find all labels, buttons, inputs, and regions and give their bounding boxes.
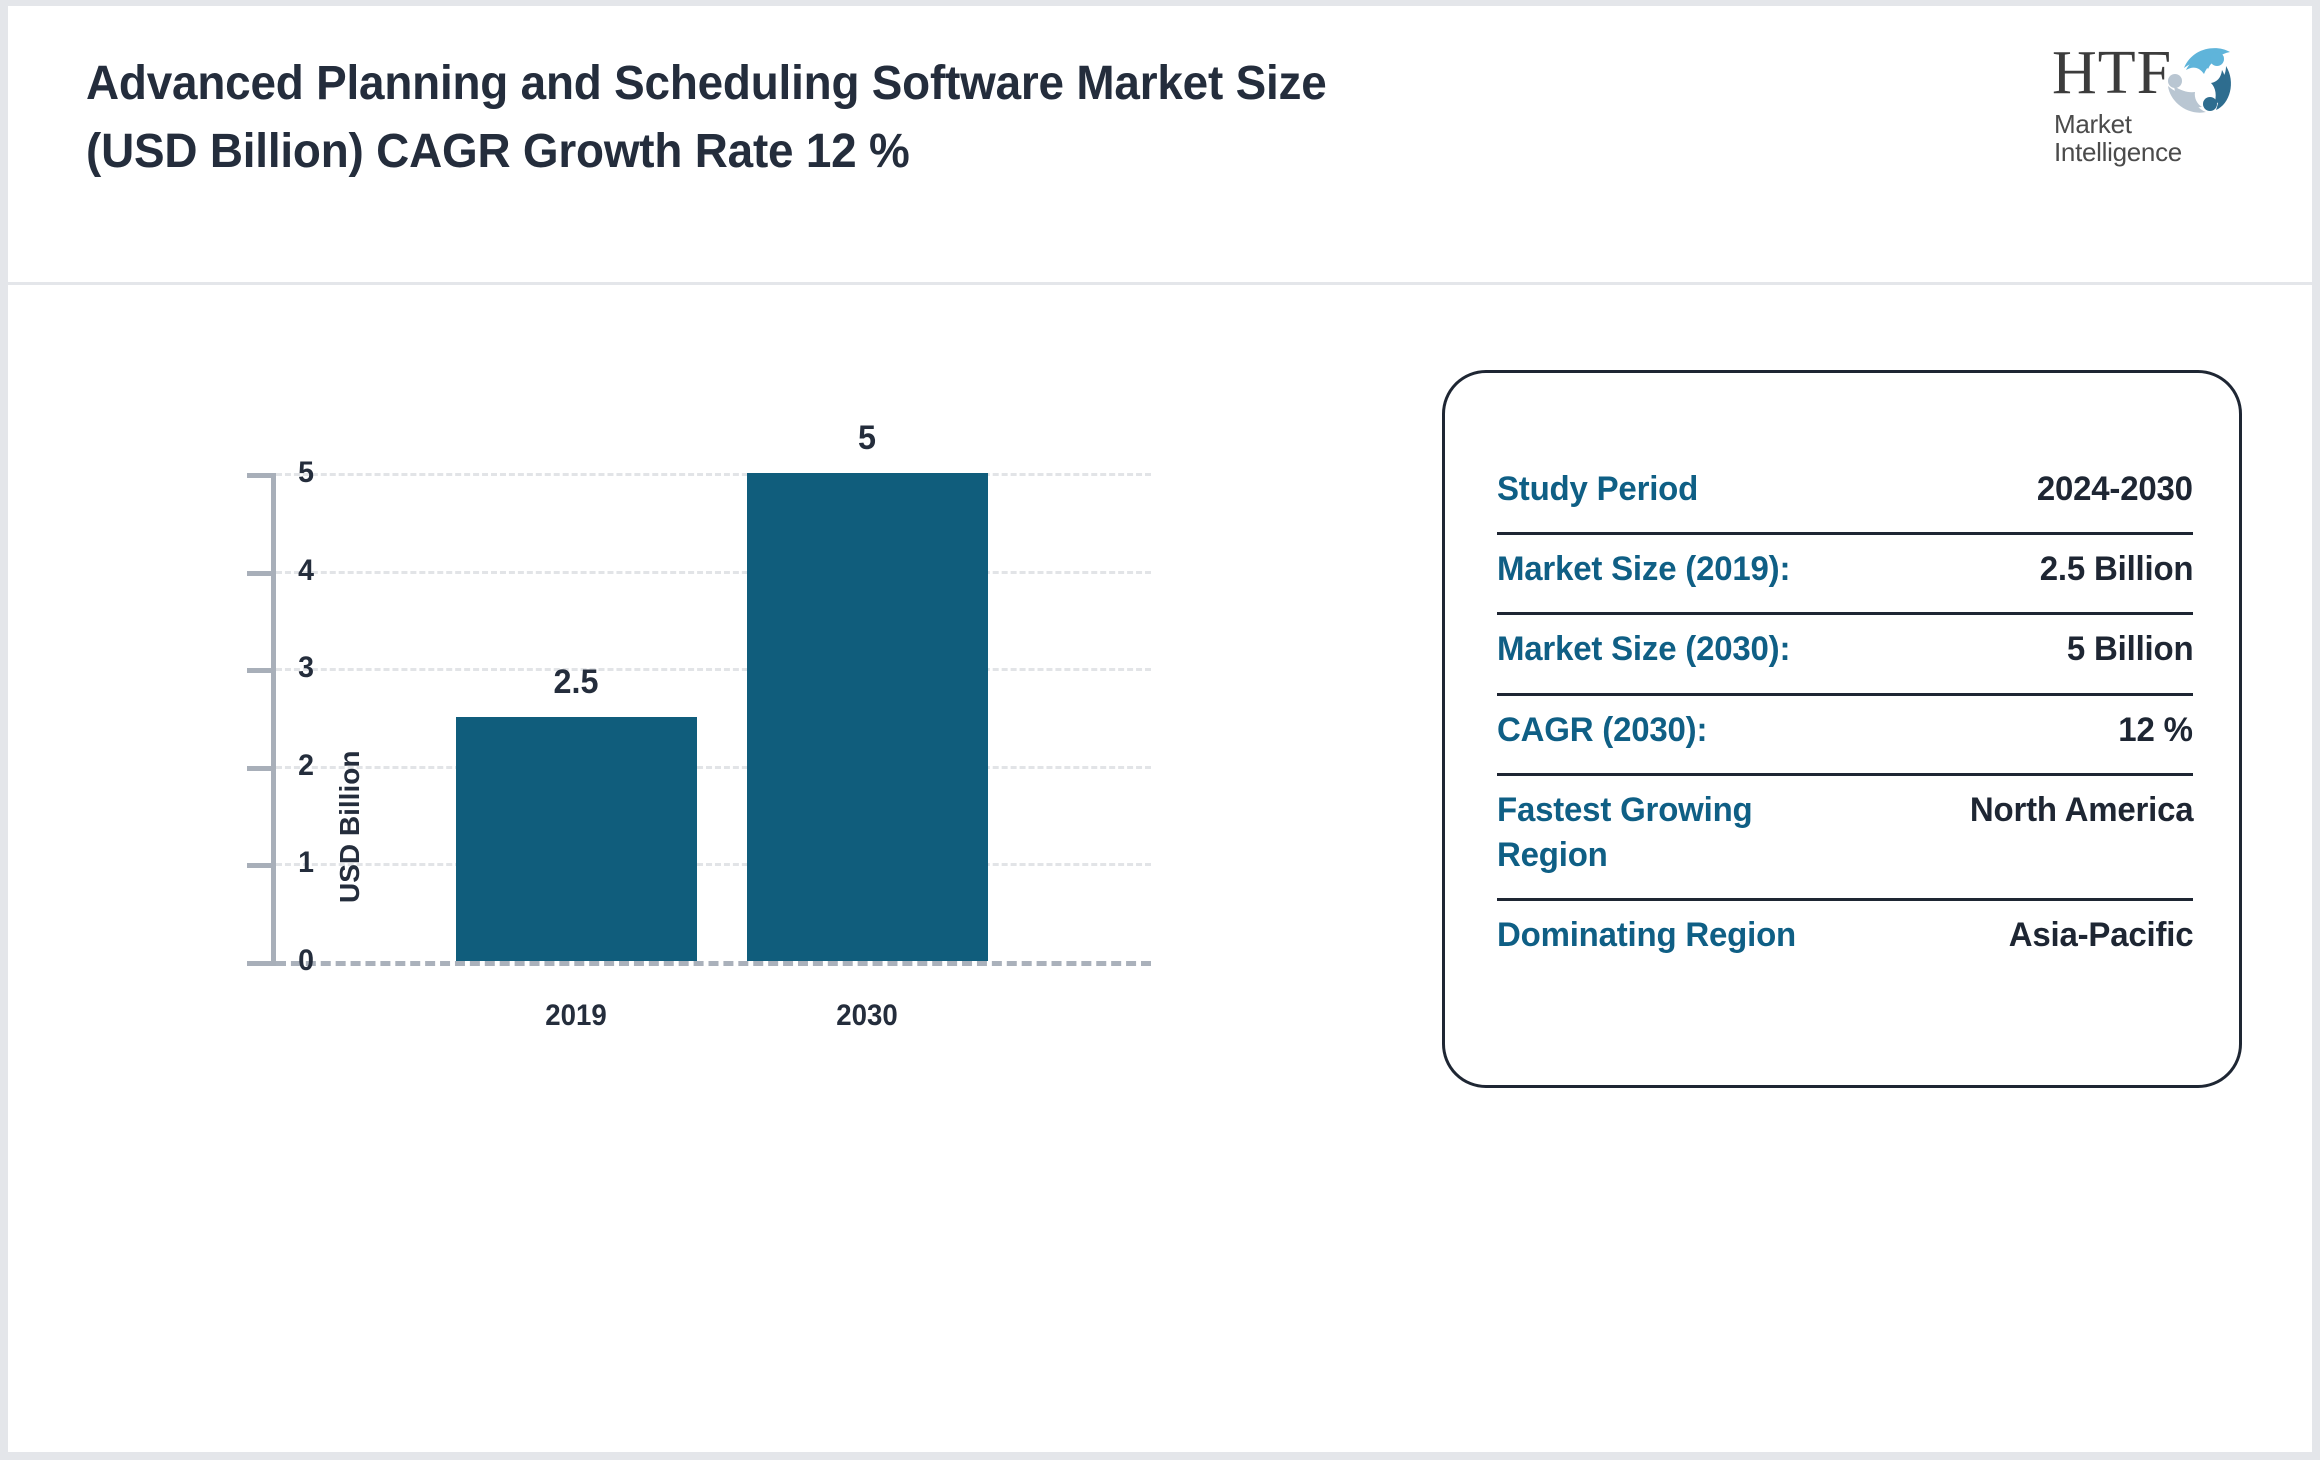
x-tick-label: 2019: [456, 999, 695, 1033]
summary-row-label: Market Size (2019):: [1497, 547, 1790, 592]
gridline: [276, 766, 1151, 769]
summary-row-value: Asia-Pacific: [2008, 913, 2193, 958]
summary-row: Market Size (2030):5 Billion: [1497, 615, 2193, 695]
x-axis-line: [276, 961, 1151, 966]
summary-row-label: Dominating Region: [1497, 913, 1796, 958]
plot-area: 012345 2.55 20192030 USD Billion: [276, 473, 1151, 961]
market-summary-card: Study Period2024-2030Market Size (2019):…: [1442, 370, 2242, 1088]
gridline: [276, 863, 1151, 866]
bar[interactable]: [747, 473, 988, 961]
summary-row: Dominating RegionAsia-Pacific: [1497, 901, 2193, 978]
summary-row: Study Period2024-2030: [1497, 455, 2193, 535]
market-size-bar-chart: 012345 2.55 20192030 USD Billion: [8, 288, 1308, 1448]
summary-row-value: 5 Billion: [2066, 627, 2193, 672]
gridline: [276, 668, 1151, 671]
summary-row-label: CAGR (2030):: [1497, 708, 1707, 753]
market-summary-rows: Study Period2024-2030Market Size (2019):…: [1497, 455, 2193, 979]
summary-row-value: 2024-2030: [2037, 467, 2193, 512]
summary-row-label: Fastest Growing Region: [1497, 788, 1827, 878]
page-title: Advanced Planning and Scheduling Softwar…: [86, 50, 1347, 186]
gridline: [276, 473, 1151, 476]
htf-market-intelligence-logo[interactable]: HTF Market Intelligence: [2052, 40, 2252, 152]
y-axis-title: USD Billion: [334, 751, 366, 903]
summary-row: CAGR (2030):12 %: [1497, 696, 2193, 776]
three-figures-circle-icon: [2162, 38, 2244, 116]
bar-value-label: 2.5: [453, 663, 700, 702]
y-tick-label: 1: [238, 846, 314, 880]
summary-row-label: Study Period: [1497, 467, 1698, 512]
bar[interactable]: [456, 717, 697, 961]
summary-row: Market Size (2019):2.5 Billion: [1497, 535, 2193, 615]
report-page: Advanced Planning and Scheduling Softwar…: [8, 6, 2312, 1452]
y-tick-label: 4: [238, 554, 314, 588]
bar-value-label: 5: [744, 419, 991, 458]
summary-row-label: Market Size (2030):: [1497, 627, 1790, 672]
y-tick-label: 2: [238, 749, 314, 783]
y-tick-label: 5: [238, 456, 314, 490]
summary-row-value: North America: [1969, 788, 2193, 833]
summary-row-value: 12 %: [2119, 708, 2193, 753]
gridline: [276, 571, 1151, 574]
y-axis-tick-labels: 012345: [234, 473, 314, 961]
logo-tagline: Market Intelligence: [2054, 110, 2254, 166]
page-header: Advanced Planning and Scheduling Softwar…: [8, 6, 2312, 285]
logo-wordmark: HTF: [2052, 42, 2178, 104]
summary-row-value: 2.5 Billion: [2039, 547, 2193, 592]
y-tick-label: 0: [238, 944, 314, 978]
summary-row: Fastest Growing RegionNorth America: [1497, 776, 2193, 901]
y-tick-label: 3: [238, 651, 314, 685]
x-tick-label: 2030: [747, 999, 986, 1033]
